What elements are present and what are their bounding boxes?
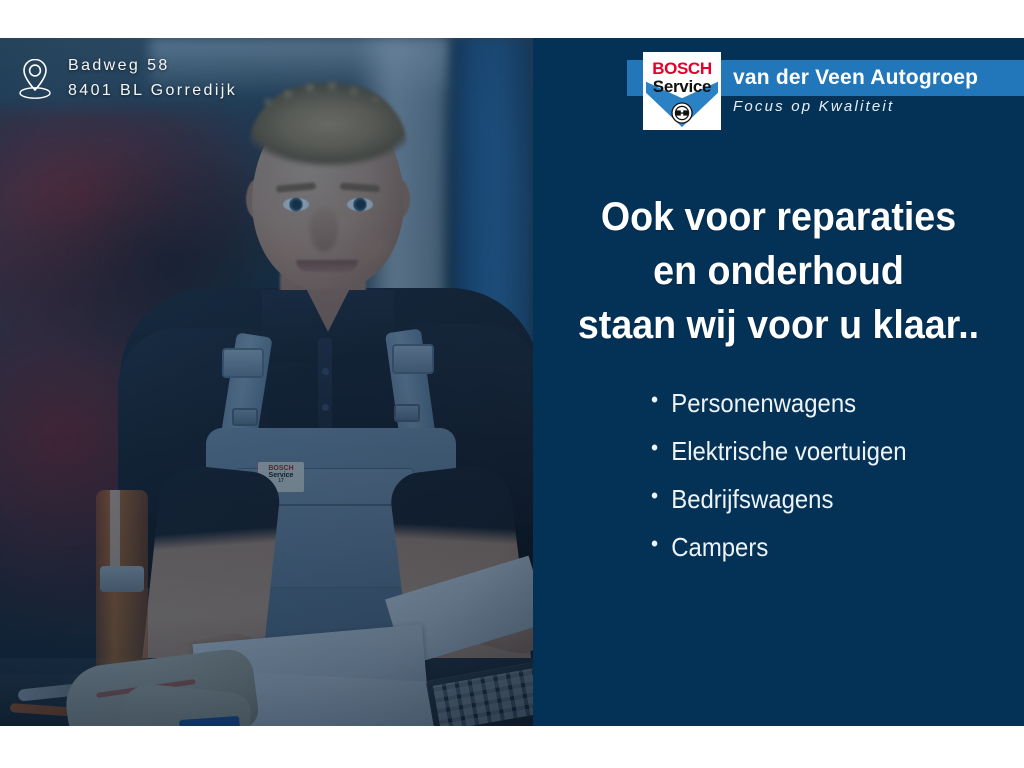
headline-line-1: Ook voor reparaties	[548, 190, 1010, 244]
address-line-2: 8401 BL Gorredijk	[68, 79, 237, 104]
services-list: Personenwagens Elektrische voertuigen Be…	[651, 390, 1024, 582]
logo-bosch-text: BOSCH	[646, 60, 718, 77]
list-item: Bedrijfswagens	[651, 486, 994, 512]
list-item: Elektrische voertuigen	[651, 438, 994, 464]
company-tagline: Focus op Kwaliteit	[733, 98, 894, 115]
logo-service-text: Service	[646, 78, 718, 95]
address-line-1: Badweg 58	[68, 54, 237, 79]
mechanic-photo: BOSCHService17	[0, 38, 533, 726]
address-text: Badweg 58 8401 BL Gorredijk	[68, 54, 237, 104]
list-item: Personenwagens	[651, 390, 994, 416]
company-name: van der Veen Autogroep	[733, 62, 978, 94]
bosch-armature-icon	[671, 102, 693, 124]
location-pin-icon	[18, 57, 52, 101]
headline-line-3: staan wij voor u klaar..	[548, 298, 1010, 352]
headline: Ook voor reparaties en onderhoud staan w…	[548, 190, 1010, 352]
advertisement-banner: BOSCHService17	[0, 38, 1024, 726]
list-item: Campers	[651, 534, 994, 560]
brand-header: BOSCH Service van der Veen Autogroep Foc…	[533, 38, 1024, 130]
info-panel: BOSCH Service van der Veen Autogroep Foc…	[533, 38, 1024, 726]
headline-line-2: en onderhoud	[548, 244, 1010, 298]
photo-vignette	[0, 38, 533, 726]
address-overlay: Badweg 58 8401 BL Gorredijk	[18, 54, 237, 104]
bosch-service-logo: BOSCH Service	[643, 52, 721, 130]
